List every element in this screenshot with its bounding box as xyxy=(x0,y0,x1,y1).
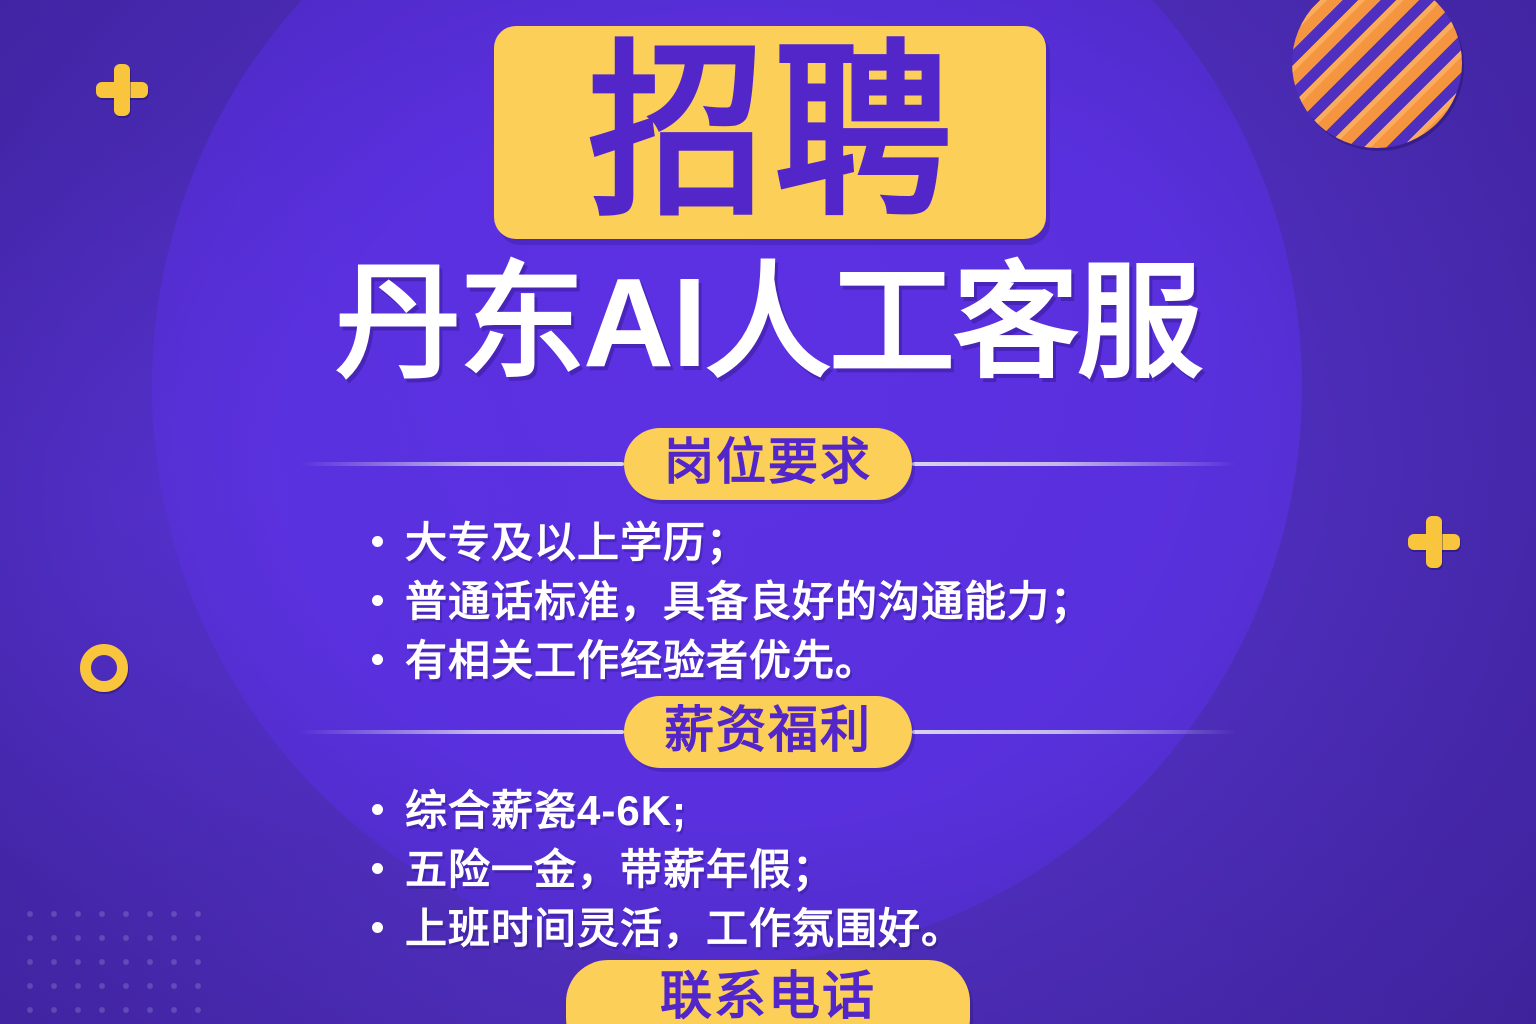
bullet-dot-icon xyxy=(372,863,383,874)
recruitment-badge-label: 招聘 xyxy=(580,38,960,227)
recruitment-poster: 招聘 丹东AI人工客服 岗位要求 大专及以上学历； 普通话标准，具备良好的沟通能… xyxy=(0,0,1536,1024)
section-title-benefits: 薪资福利 xyxy=(624,696,912,768)
bullet-dot-icon xyxy=(372,536,383,547)
bullet-dot-icon xyxy=(372,804,383,815)
list-item-text: 大专及以上学历； xyxy=(405,518,749,568)
section-title-requirements: 岗位要求 xyxy=(624,428,912,500)
benefits-list: 综合薪瓷4-6K; 五险一金，带薪年假； 上班时间灵活，工作氛围好。 xyxy=(372,786,1372,963)
divider-line-left xyxy=(300,462,624,466)
list-item-text: 有相关工作经验者优先。 xyxy=(405,636,878,686)
requirements-list: 大专及以上学历； 普通话标准，具备良好的沟通能力； 有相关工作经验者优先。 xyxy=(372,518,1372,695)
list-item: 综合薪瓷4-6K; xyxy=(372,786,1372,837)
section-header-benefits: 薪资福利 xyxy=(300,696,1236,768)
list-item: 五险一金，带薪年假； xyxy=(372,845,1372,896)
dot-grid-icon xyxy=(18,902,218,1024)
recruitment-badge: 招聘 xyxy=(494,26,1046,239)
list-item-text: 上班时间灵活，工作氛围好。 xyxy=(405,904,964,954)
list-item-text: 五险一金，带薪年假； xyxy=(405,845,835,895)
divider-line-right xyxy=(912,730,1236,734)
page-title: 丹东AI人工客服 xyxy=(0,252,1536,393)
list-item-text: 普通话标准，具备良好的沟通能力； xyxy=(405,577,1093,627)
divider-line-right xyxy=(912,462,1236,466)
list-item-text: 综合薪瓷4-6K; xyxy=(405,786,687,836)
bullet-dot-icon xyxy=(372,595,383,606)
circle-outline-icon xyxy=(80,644,128,692)
list-item: 普通话标准，具备良好的沟通能力； xyxy=(372,577,1372,628)
plus-icon-top-left xyxy=(96,64,148,116)
list-item: 大专及以上学历； xyxy=(372,518,1372,569)
plus-icon-right xyxy=(1408,516,1460,568)
section-header-requirements: 岗位要求 xyxy=(300,428,1236,500)
list-item: 有相关工作经验者优先。 xyxy=(372,636,1372,687)
contact-phone-label: 联系电话 xyxy=(660,971,876,1023)
divider-line-left xyxy=(300,730,624,734)
contact-phone-badge: 联系电话 xyxy=(566,960,970,1024)
bullet-dot-icon xyxy=(372,654,383,665)
list-item: 上班时间灵活，工作氛围好。 xyxy=(372,904,1372,955)
bullet-dot-icon xyxy=(372,922,383,933)
